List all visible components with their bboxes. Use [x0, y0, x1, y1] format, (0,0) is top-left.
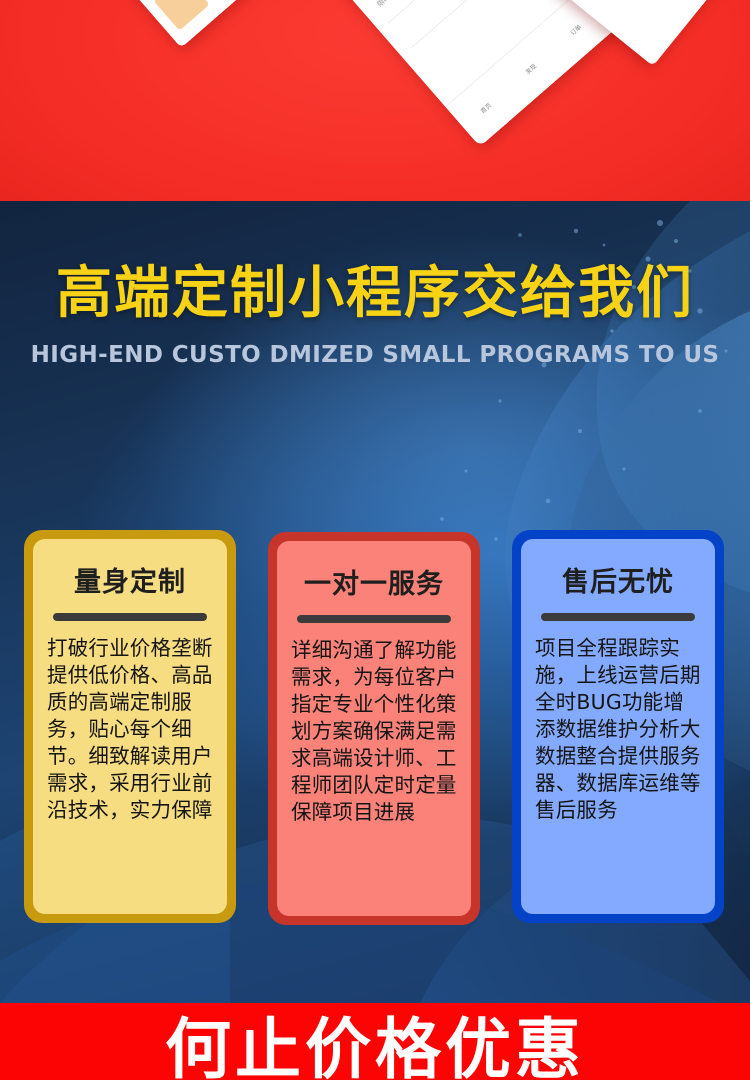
card-body: 项目全程跟踪实施，上线运营后期全时BUG功能增添数据维护分析大数据整合提供服务器… [535, 635, 701, 824]
feature-card-row: 量身定制 打破行业价格垄断提供低价格、高品质的高端定制服务，贴心每个细节。细致解… [0, 530, 750, 925]
card-inner: 售后无忧 项目全程跟踪实施，上线运营后期全时BUG功能增添数据维护分析大数据整合… [521, 539, 715, 914]
hero-title-block: 高端定制小程序交给我们 HIGH-END CUSTO DMIZED SMALL … [0, 265, 750, 368]
card-divider [541, 613, 695, 621]
promo-page: 新下午茶 甜品饮品 面包糕点 ¥100 手机端专享优惠 最高100元新人红包 [0, 0, 750, 1080]
card-body: 详细沟通了解功能需求，为每位客户指定专业个性化策划方案确保满足需求高端设计师、工… [291, 637, 457, 826]
card-divider [297, 615, 451, 623]
feature-card-one-on-one-service[interactable]: 一对一服务 详细沟通了解功能需求，为每位客户指定专业个性化策划方案确保满足需求高… [268, 532, 480, 925]
top-red-banner: 新下午茶 甜品饮品 面包糕点 ¥100 手机端专享优惠 最高100元新人红包 [0, 0, 750, 201]
card-body: 打破行业价格垄断提供低价格、高品质的高端定制服务，贴心每个细节。细致解读用户需求… [47, 635, 213, 824]
card-title: 一对一服务 [304, 571, 444, 598]
bottom-red-banner: 何止价格优惠 [0, 1003, 750, 1080]
mock-tab: 订单 [568, 22, 583, 37]
mock-sub-small: 限时领取专享福利 [375, 0, 424, 9]
mock-tab-label: 订单 [568, 22, 583, 37]
page-subtitle: HIGH-END CUSTO DMIZED SMALL PROGRAMS TO … [0, 342, 750, 368]
card-inner: 一对一服务 详细沟通了解功能需求，为每位客户指定专业个性化策划方案确保满足需求高… [277, 541, 471, 916]
card-title: 售后无忧 [562, 569, 674, 596]
feature-card-tailored[interactable]: 量身定制 打破行业价格垄断提供低价格、高品质的高端定制服务，贴心每个细节。细致解… [24, 530, 236, 923]
mock-tab-label: 发现 [523, 61, 538, 76]
mock-tab: 首页 [478, 100, 493, 115]
card-title: 量身定制 [74, 569, 186, 596]
bottom-banner-title: 何止价格优惠 [0, 1017, 750, 1080]
mock-tab-label: 首页 [478, 100, 493, 115]
page-title: 高端定制小程序交给我们 [0, 265, 750, 324]
mock-tab: 发现 [523, 61, 538, 76]
feature-card-after-sales[interactable]: 售后无忧 项目全程跟踪实施，上线运营后期全时BUG功能增添数据维护分析大数据整合… [512, 530, 724, 923]
card-divider [53, 613, 207, 621]
card-inner: 量身定制 打破行业价格垄断提供低价格、高品质的高端定制服务，贴心每个细节。细致解… [33, 539, 227, 914]
